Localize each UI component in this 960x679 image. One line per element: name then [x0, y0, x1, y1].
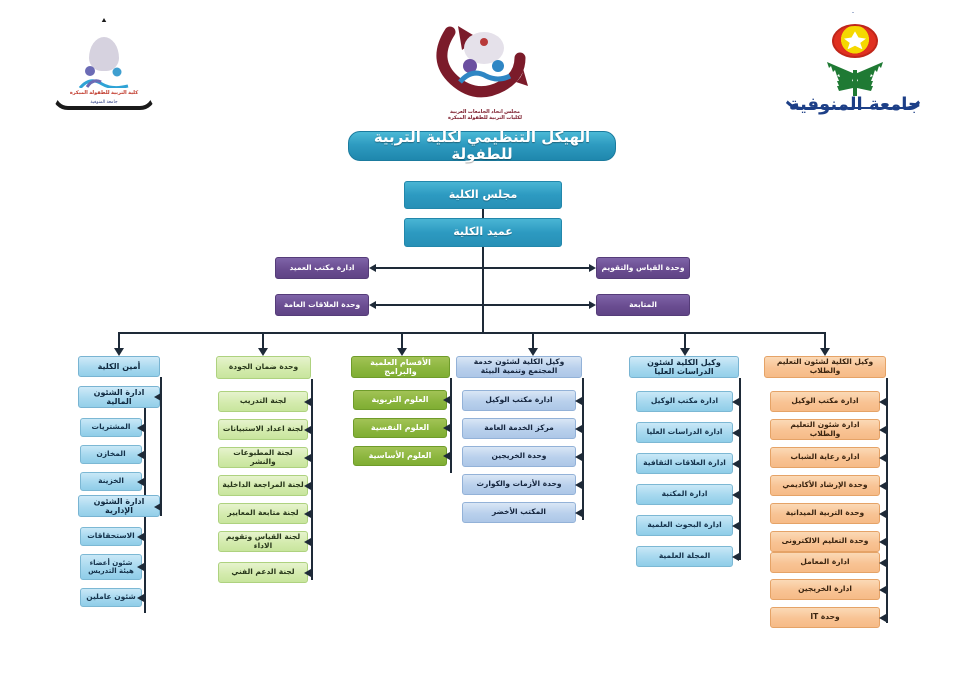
- menoufia-university-logo: جامعة المنوفية: [760, 8, 950, 116]
- arrow-purchases: [137, 424, 144, 432]
- spine-education-children: [886, 378, 888, 623]
- node-training-committee[interactable]: لجنة التدريب: [218, 391, 308, 412]
- arrow-questionnaire-committee: [304, 426, 311, 434]
- node-internal-review-committee[interactable]: لجنة المراجعة الداخلية: [218, 475, 308, 496]
- university-name: جامعة المنوفية: [760, 94, 950, 115]
- arrow-faculty-staff-affairs: [137, 563, 144, 571]
- node-dean[interactable]: عميد الكلية: [404, 218, 562, 247]
- node-college-secretary[interactable]: أمين الكلية: [78, 356, 160, 377]
- arrow-elearning-unit: [879, 538, 886, 546]
- connector-staff-left-1: [376, 267, 483, 269]
- node-academic-departments[interactable]: الأقسام العلمية والبرامج: [351, 356, 450, 378]
- node-it-unit[interactable]: وحدة IT: [770, 607, 880, 628]
- arrow-staff-left-2: [369, 301, 376, 309]
- arrow-vice-dean-office-graduate: [732, 398, 739, 406]
- arrow-col-education: [820, 348, 830, 356]
- node-stores[interactable]: المخازن: [80, 445, 142, 464]
- node-faculty-staff-affairs[interactable]: شئون أعضاء هيئة التدريس: [80, 554, 142, 580]
- node-public-relations-unit[interactable]: وحدة العلاقات العامة: [275, 294, 369, 316]
- arrow-psychological-sciences: [443, 424, 450, 432]
- node-quality-assurance-unit[interactable]: وحدة ضمان الجودة: [216, 356, 311, 379]
- arrow-scientific-journal: [732, 553, 739, 561]
- node-educational-sciences[interactable]: العلوم التربوية: [353, 390, 447, 410]
- node-basic-sciences[interactable]: العلوم الأساسية: [353, 446, 447, 466]
- node-scientific-journal[interactable]: المجلة العلمية: [636, 546, 733, 567]
- arrow-col-community: [528, 348, 538, 356]
- arrow-graduates-administration: [879, 586, 886, 594]
- spine-administrative-children: [144, 517, 146, 613]
- node-performance-evaluation-committee[interactable]: لجنة القياس وتقويم الاداء: [218, 531, 308, 552]
- arrow-entitlements: [137, 533, 144, 541]
- faculty-logo-line1: كلية التربية للطفولة المبكرة: [56, 90, 152, 97]
- node-vice-dean-office-graduate[interactable]: ادارة مكتب الوكيل: [636, 391, 733, 412]
- node-follow-up-unit[interactable]: المتابعة: [596, 294, 690, 316]
- node-financial-affairs-administration[interactable]: ادارة الشئون المالية: [78, 386, 160, 408]
- connector-main-bus: [118, 332, 824, 334]
- arrow-vice-dean-office-community: [575, 397, 582, 405]
- connector-council-dean: [482, 209, 484, 218]
- spine-departments-children: [450, 378, 452, 473]
- node-college-council[interactable]: مجلس الكلية: [404, 181, 562, 209]
- node-publications-committee[interactable]: لجنة المطبوعات والنشر: [218, 447, 308, 468]
- arrow-education-student-affairs-administration: [879, 426, 886, 434]
- arrow-scientific-research-administration: [732, 522, 739, 530]
- arab-childhood-council-logo: مجلس اتحاد الجامعات العربية لكليات الترب…: [420, 10, 550, 122]
- arrow-staff-right-1: [589, 264, 596, 272]
- node-dean-office-administration[interactable]: ادارة مكتب العميد: [275, 257, 369, 279]
- council-emblem-icon: [420, 10, 550, 102]
- arrow-public-service-center: [575, 425, 582, 433]
- node-academic-advising-unit[interactable]: وحدة الإرشاد الأكاديمي: [770, 475, 880, 496]
- node-psychological-sciences[interactable]: العلوم النفسية: [353, 418, 447, 438]
- node-vice-dean-education-students[interactable]: وكيل الكلية لشئون التعليم والطلاب: [764, 356, 886, 378]
- arrow-labs-administration: [879, 559, 886, 567]
- chart-title: الهيكل التنظيمي لكلية التربية للطفولة: [348, 131, 616, 161]
- spine-quality-children: [311, 379, 313, 580]
- arrow-library-administration: [732, 491, 739, 499]
- arrow-performance-evaluation-committee: [304, 538, 311, 546]
- arrow-col-quality: [258, 348, 268, 356]
- node-administrative-affairs-administration[interactable]: ادارة الشئون الإدارية: [78, 495, 160, 517]
- arrow-training-committee: [304, 398, 311, 406]
- arrow-col-graduate: [680, 348, 690, 356]
- arrow-cultural-relations-administration: [732, 460, 739, 468]
- council-logo-caption: مجلس اتحاد الجامعات العربية لكليات الترب…: [420, 109, 550, 123]
- node-vice-dean-graduate-studies[interactable]: وكيل الكلية لشئون الدراسات العليا: [629, 356, 739, 378]
- connector-dean-trunk: [482, 247, 484, 333]
- node-treasury[interactable]: الخزينة: [80, 472, 142, 491]
- people-icon: [77, 66, 131, 88]
- node-purchases[interactable]: المشتريات: [80, 418, 142, 437]
- faculty-logo-line2: جامعة المنوفية: [56, 99, 152, 104]
- node-graduate-studies-administration[interactable]: ادارة الدراسات العليا: [636, 422, 733, 443]
- arrow-employees-affairs: [137, 594, 144, 602]
- node-vice-dean-community-service[interactable]: وكيل الكلية لشئون خدمة المجتمع وتنمية ال…: [456, 356, 582, 378]
- spine-community-children: [582, 378, 584, 520]
- arrow-secretary-financial: [154, 393, 161, 401]
- node-scientific-research-administration[interactable]: ادارة البحوث العلمية: [636, 515, 733, 536]
- node-public-service-center[interactable]: مركز الخدمة العامة: [462, 418, 576, 439]
- arrow-educational-sciences: [443, 396, 450, 404]
- node-measurement-evaluation-unit[interactable]: وحدة القياس والتقويم: [596, 257, 690, 279]
- arrow-staff-right-2: [589, 301, 596, 309]
- node-green-office[interactable]: المكتب الأخضر: [462, 502, 576, 523]
- arrow-academic-advising-unit: [879, 482, 886, 490]
- arrow-crisis-disaster-unit: [575, 481, 582, 489]
- node-library-administration[interactable]: ادارة المكتبة: [636, 484, 733, 505]
- council-line1: مجلس اتحاد الجامعات العربية: [450, 109, 520, 115]
- node-field-training-unit[interactable]: وحدة التربية الميدانية: [770, 503, 880, 524]
- node-youth-welfare-administration[interactable]: ادارة رعاية الشباب: [770, 447, 880, 468]
- arrow-vice-dean-office-education: [879, 398, 886, 406]
- node-technical-support-committee[interactable]: لجنة الدعم الفني: [218, 562, 308, 583]
- node-labs-administration[interactable]: ادارة المعامل: [770, 552, 880, 573]
- arrow-standards-followup-committee: [304, 510, 311, 518]
- arrow-field-training-unit: [879, 510, 886, 518]
- arrow-basic-sciences: [443, 452, 450, 460]
- connector-staff-right-2: [482, 304, 589, 306]
- arrow-graduate-studies-administration: [732, 429, 739, 437]
- arrow-treasury: [137, 478, 144, 486]
- arrow-col-departments: [397, 348, 407, 356]
- faculty-logo: كلية التربية للطفولة المبكرة جامعة المنو…: [52, 18, 156, 110]
- flower-icon: [832, 24, 878, 58]
- node-cultural-relations-administration[interactable]: ادارة العلاقات الثقافية: [636, 453, 733, 474]
- node-entitlements[interactable]: الاستحقاقات: [80, 527, 142, 546]
- spine-graduate-children: [739, 378, 741, 560]
- node-employees-affairs[interactable]: شئون عاملين: [80, 588, 142, 607]
- node-crisis-disaster-unit[interactable]: وحدة الأزمات والكوارث: [462, 474, 576, 495]
- wheat-icon: [809, 56, 901, 96]
- node-elearning-unit[interactable]: وحدة التعليم الالكترونى: [770, 531, 880, 552]
- node-graduates-unit-community[interactable]: وحدة الخريجين: [462, 446, 576, 467]
- arrow-youth-welfare-administration: [879, 454, 886, 462]
- connector-staff-right-1: [482, 267, 589, 269]
- arrow-col-secretary: [114, 348, 124, 356]
- org-chart-canvas: كلية التربية للطفولة المبكرة جامعة المنو…: [0, 0, 960, 679]
- arrow-publications-committee: [304, 454, 311, 462]
- node-education-student-affairs-administration[interactable]: ادارة شئون التعليم والطلاب: [770, 419, 880, 440]
- arrow-internal-review-committee: [304, 482, 311, 490]
- spine-financial-children: [144, 408, 146, 500]
- arrow-graduates-unit-community: [575, 453, 582, 461]
- node-vice-dean-office-education[interactable]: ادارة مكتب الوكيل: [770, 391, 880, 412]
- arrow-it-unit: [879, 614, 886, 622]
- node-vice-dean-office-community[interactable]: ادارة مكتب الوكيل: [462, 390, 576, 411]
- arrow-green-office: [575, 509, 582, 517]
- arrow-staff-left-1: [369, 264, 376, 272]
- arrow-stores: [137, 451, 144, 459]
- arrow-secretary-administrative: [154, 503, 161, 511]
- node-questionnaire-committee[interactable]: لجنة اعداد الاستبيانات: [218, 419, 308, 440]
- arrow-technical-support-committee: [304, 569, 311, 577]
- node-graduates-administration[interactable]: ادارة الخريجين: [770, 579, 880, 600]
- node-standards-followup-committee[interactable]: لجنة متابعة المعايير: [218, 503, 308, 524]
- connector-staff-left-2: [376, 304, 483, 306]
- council-line2: لكليات التربية للطفولة المبكرة: [448, 115, 522, 121]
